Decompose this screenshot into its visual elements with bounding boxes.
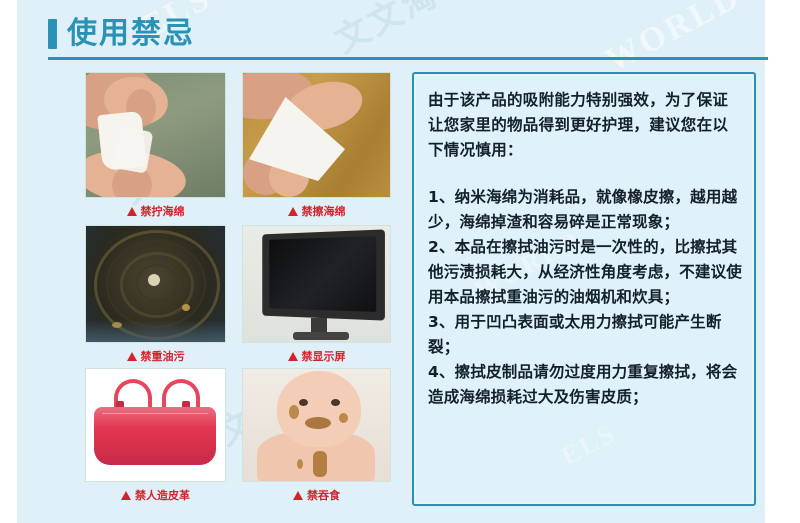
- photo-caption: 禁人造皮革: [85, 487, 226, 503]
- photo-thumbnail-rub[interactable]: [242, 72, 391, 198]
- title-accent-bar: [48, 19, 57, 49]
- notice-item: 2、本品在擦拭油污时是一次性的，比擦拭其他污渍损耗大，从经济性角度考虑，不建议使…: [428, 235, 742, 310]
- notice-item: 1、纳米海绵为消耗品，就像橡皮擦，越用越少，海绵掉渣和容易碎是正常现象；: [428, 185, 742, 235]
- page-title: 使用禁忌: [48, 14, 768, 62]
- photo-cell: 禁人造皮革: [85, 368, 226, 482]
- notice-list: 1、纳米海绵为消耗品，就像橡皮擦，越用越少，海绵掉渣和容易碎是正常现象； 2、本…: [428, 185, 742, 410]
- photo-thumbnail-grease[interactable]: [85, 225, 226, 343]
- warning-triangle-icon: [127, 207, 137, 216]
- title-text: 使用禁忌: [67, 17, 195, 51]
- warning-triangle-icon: [288, 207, 298, 216]
- warning-triangle-icon: [127, 352, 137, 361]
- title-underline: [48, 57, 768, 60]
- notice-item: 3、用于凹凸表面或太用力擦拭可能产生断裂；: [428, 310, 742, 360]
- warning-triangle-icon: [121, 491, 131, 500]
- photo-caption: 禁重油污: [85, 348, 226, 364]
- notice-box: 由于该产品的吸附能力特别强效，为了保证让您家里的物品得到更好护理，建议您在以下情…: [412, 72, 756, 506]
- photo-caption: 禁擦海绵: [242, 203, 391, 219]
- warning-triangle-icon: [288, 352, 298, 361]
- photo-thumbnail-handbag[interactable]: [85, 368, 226, 482]
- notice-item: 4、擦拭皮制品请勿过度用力重复擦拭，将会造成海绵损耗过大及伤害皮质；: [428, 360, 742, 410]
- photo-thumbnail-monitor[interactable]: [242, 225, 391, 343]
- page-root: ELS 文文淘 WORLD 文文 WORLD 文文淘 ELS 使用禁忌: [0, 0, 800, 523]
- photo-cell: 禁擦海绵: [242, 72, 391, 198]
- photo-grid: 禁拧海绵 禁擦海绵: [85, 72, 391, 506]
- photo-thumbnail-baby[interactable]: [242, 368, 391, 482]
- photo-cell: 禁显示屏: [242, 225, 391, 343]
- warning-triangle-icon: [293, 491, 303, 500]
- photo-cell: 禁重油污: [85, 225, 226, 343]
- notice-intro: 由于该产品的吸附能力特别强效，为了保证让您家里的物品得到更好护理，建议您在以下情…: [428, 88, 742, 163]
- photo-caption: 禁吞食: [242, 487, 391, 503]
- photo-caption: 禁显示屏: [242, 348, 391, 364]
- photo-thumbnail-wring[interactable]: [85, 72, 226, 198]
- photo-caption: 禁拧海绵: [85, 203, 226, 219]
- photo-cell: 禁吞食: [242, 368, 391, 482]
- photo-cell: 禁拧海绵: [85, 72, 226, 198]
